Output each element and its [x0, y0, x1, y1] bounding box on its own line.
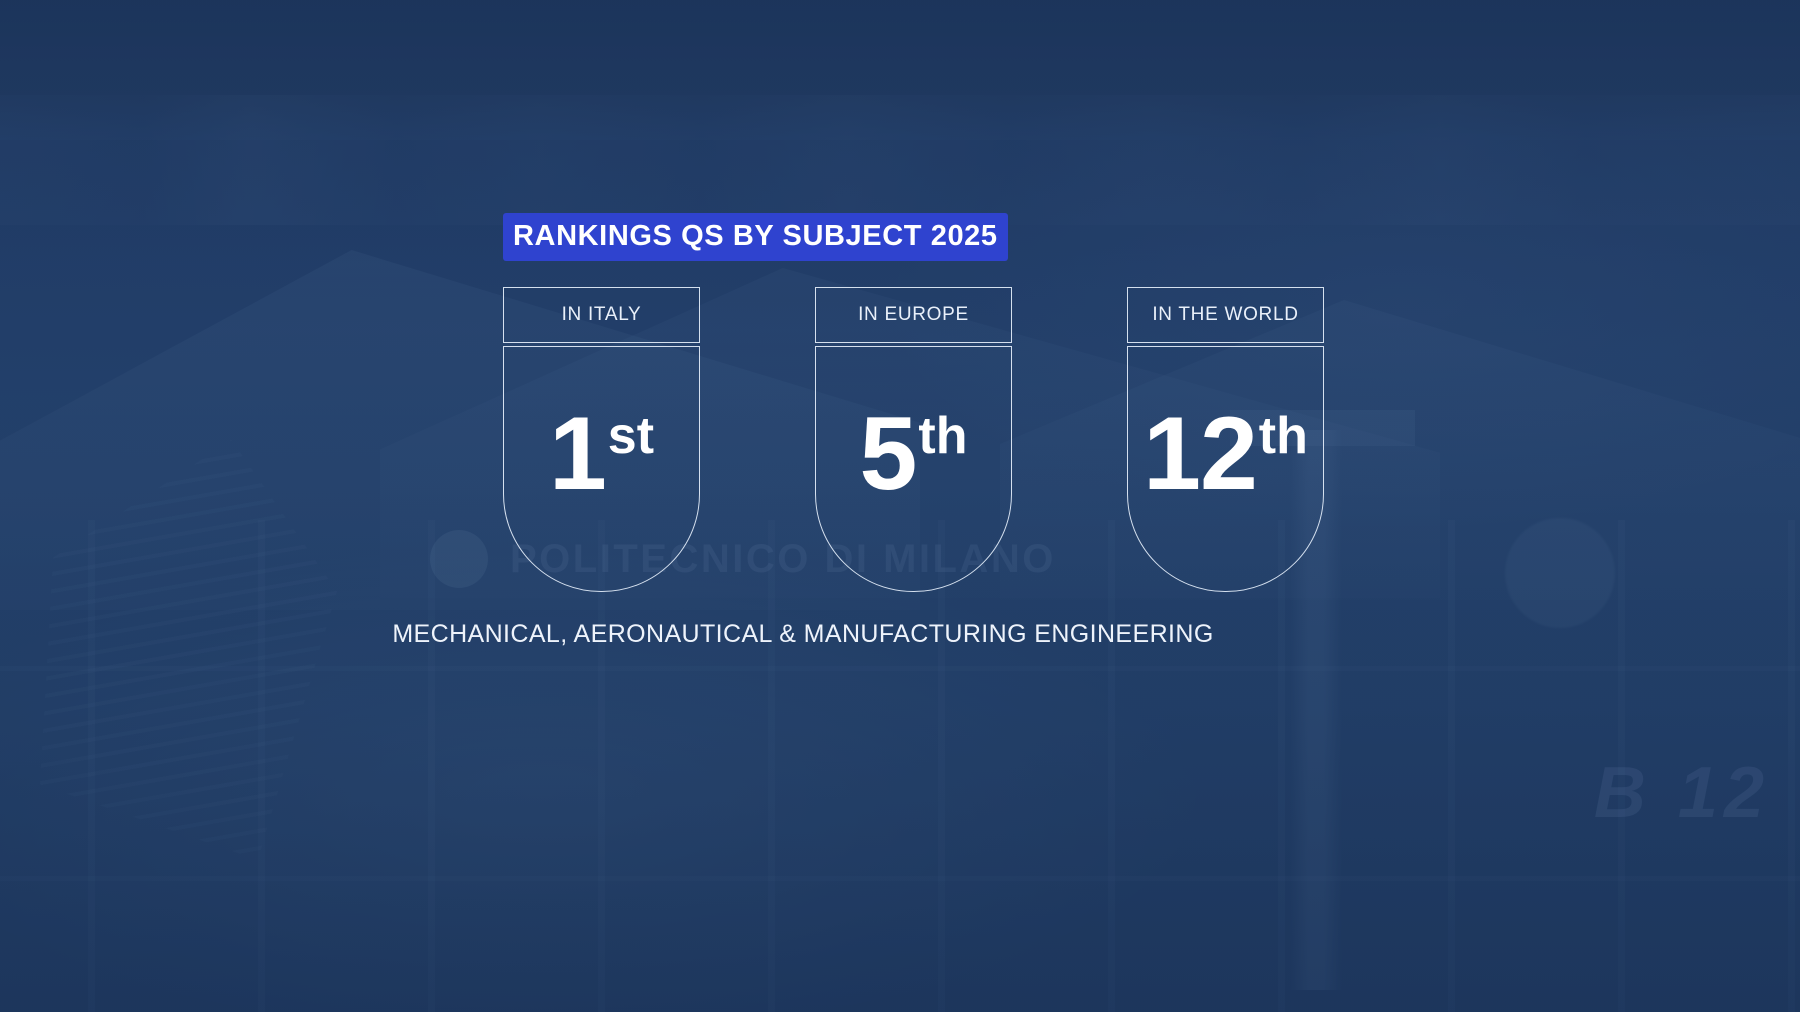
ranking-infographic: POLITECNICO DI MILANO B 12 RANKINGS QS B…: [0, 0, 1800, 1012]
shield-header-italy: IN ITALY: [503, 287, 700, 343]
rank-suffix: th: [1259, 414, 1308, 459]
shield-badge-europe: IN EUROPE 5 th: [815, 287, 1012, 592]
shield-body-europe: 5 th: [815, 346, 1012, 592]
shield-group: IN ITALY 1 st IN EUROPE 5 th: [503, 287, 1324, 592]
content-layer: RANKINGS QS BY SUBJECT 2025 IN ITALY 1 s…: [0, 0, 1800, 1012]
shield-scope-label: IN ITALY: [562, 304, 642, 326]
rank-number: 5: [860, 410, 917, 499]
rank-value-world: 12 th: [1143, 410, 1308, 499]
shield-scope-label: IN THE WORLD: [1152, 304, 1298, 326]
page-title: RANKINGS QS BY SUBJECT 2025: [503, 213, 1008, 261]
rank-value-europe: 5 th: [860, 410, 968, 499]
caption-container: MECHANICAL, AERONAUTICAL & MANUFACTURING…: [0, 620, 1800, 649]
shield-header-europe: IN EUROPE: [815, 287, 1012, 343]
shield-body-italy: 1 st: [503, 346, 700, 592]
subject-caption: MECHANICAL, AERONAUTICAL & MANUFACTURING…: [392, 620, 1213, 649]
rank-number: 1: [549, 410, 606, 499]
shield-body-world: 12 th: [1127, 346, 1324, 592]
rank-number: 12: [1143, 410, 1257, 499]
title-container: RANKINGS QS BY SUBJECT 2025: [503, 213, 1008, 261]
shield-badge-italy: IN ITALY 1 st: [503, 287, 700, 592]
rank-suffix: st: [608, 414, 654, 459]
rank-suffix: th: [918, 414, 967, 459]
shield-header-world: IN THE WORLD: [1127, 287, 1324, 343]
shield-scope-label: IN EUROPE: [858, 304, 969, 326]
shield-badge-world: IN THE WORLD 12 th: [1127, 287, 1324, 592]
rank-value-italy: 1 st: [549, 410, 654, 499]
